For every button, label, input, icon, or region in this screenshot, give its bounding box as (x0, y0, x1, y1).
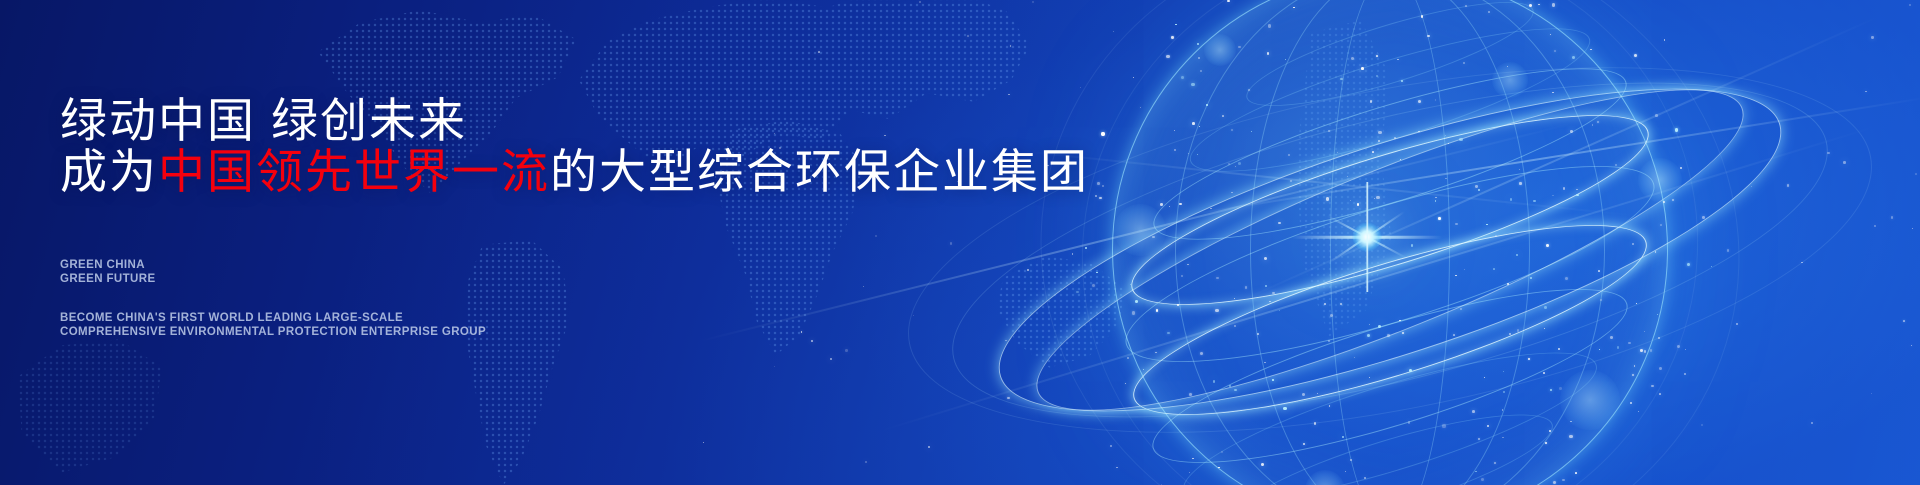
background-particle (919, 1, 921, 3)
globe-particle (1135, 300, 1138, 303)
background-particle (1912, 228, 1913, 229)
globe-particle (1218, 467, 1220, 469)
globe-latitude-ring-6 (1117, 188, 1662, 452)
globe-particle (1238, 162, 1241, 165)
background-particle (1488, 11, 1490, 13)
globe-meridian-2 (1175, 0, 1605, 485)
globe-particle (1576, 189, 1578, 191)
globe-particle (1101, 132, 1104, 135)
globe-particle (1177, 304, 1179, 306)
globe-particle (1354, 357, 1355, 358)
globe-particle (1677, 345, 1680, 348)
globe-particle (1248, 89, 1250, 91)
globe-particle (1546, 244, 1549, 247)
background-particle (950, 242, 952, 244)
background-particle (1455, 223, 1457, 225)
globe-particle (1213, 380, 1215, 382)
background-particle (1787, 184, 1790, 187)
globe-particle (1378, 131, 1381, 134)
globe-particle (1655, 251, 1657, 253)
globe-particle (1197, 154, 1198, 155)
background-particle (1340, 303, 1343, 306)
globe-particle (1229, 385, 1231, 387)
background-particle (1374, 198, 1375, 199)
globe-particle (1529, 4, 1532, 7)
globe-particle (1143, 369, 1144, 370)
globe-particle (1465, 5, 1467, 7)
globe-particle (1684, 373, 1686, 375)
globe-particle (1543, 372, 1545, 374)
globe-particle (1361, 67, 1364, 70)
background-particle (1228, 163, 1230, 165)
globe-particle (1644, 350, 1647, 353)
background-particle (1278, 222, 1281, 225)
globe-particle (1378, 140, 1380, 142)
globe-particle (1478, 189, 1480, 191)
globe-particle (1402, 332, 1404, 334)
globe-particle (1200, 352, 1203, 355)
background-particle (967, 35, 969, 37)
background-particle (1507, 66, 1508, 67)
globe-particle (1576, 194, 1579, 197)
background-particle (1874, 225, 1876, 227)
background-particle (779, 147, 781, 149)
background-particle (1445, 178, 1447, 180)
globe-particle (1503, 391, 1505, 393)
globe-particle (1261, 463, 1264, 466)
globe-particle (1438, 217, 1441, 220)
globe-particle (1553, 481, 1556, 484)
globe-particle (1191, 83, 1194, 86)
globe-graphic (1070, 0, 1710, 485)
globe-particle (1174, 149, 1176, 151)
globe-particle (1411, 244, 1413, 246)
globe-particle (1475, 471, 1477, 473)
globe-particle (1558, 348, 1560, 350)
headline-white-prefix: 成为 (60, 145, 158, 198)
globe-particle (1102, 185, 1104, 187)
globe-particle (1502, 409, 1504, 411)
globe-particle (1187, 264, 1188, 265)
background-particle (1685, 349, 1686, 350)
globe-meridian-3 (1250, 0, 1530, 485)
background-particle (1559, 387, 1562, 390)
globe-particle (1272, 292, 1275, 295)
globe-particle (1216, 277, 1218, 279)
globe-particle (1329, 405, 1331, 407)
globe-particle (1503, 371, 1505, 373)
hero-banner: 绿动中国 绿创未来 成为中国领先世界一流的大型综合环保企业集团 GREEN CH… (0, 0, 1920, 485)
globe-particle (1171, 36, 1173, 38)
globe-particle (1409, 369, 1412, 372)
globe-meridian-1 (1112, 0, 1668, 485)
background-particle (1464, 269, 1465, 270)
background-particle (1116, 467, 1118, 469)
globe-particle (1663, 201, 1665, 203)
globe-particle (1519, 182, 1521, 184)
globe-particle (1293, 7, 1294, 8)
globe-particle (1401, 80, 1403, 82)
background-particle (865, 461, 867, 463)
globe-particle (1130, 284, 1131, 285)
globe-particle (1337, 152, 1338, 153)
globe-particle (1550, 34, 1552, 36)
background-particle (774, 133, 775, 134)
background-particle (1435, 99, 1437, 101)
globe-particle (1634, 54, 1637, 57)
globe-particle (1238, 46, 1241, 49)
globe-particle (1283, 407, 1286, 410)
globe-particle (1072, 253, 1074, 255)
globe-orbit-ring-4 (1008, 33, 1773, 466)
headline-red-emphasis: 中国领先世界一流 (158, 145, 550, 198)
globe-particle (1181, 275, 1183, 277)
background-particle (1915, 173, 1917, 175)
globe-particle (1234, 298, 1235, 299)
globe-particle (1156, 309, 1158, 311)
globe-particle (1264, 362, 1266, 364)
globe-particle (1235, 166, 1236, 167)
globe-particle (1517, 329, 1519, 331)
globe-particle (1702, 216, 1705, 219)
globe-particle (1166, 55, 1169, 58)
background-particle (1843, 161, 1845, 163)
globe-particle (1215, 309, 1218, 312)
background-particle (1911, 345, 1912, 346)
background-particle (1097, 182, 1100, 185)
globe-particle (1615, 164, 1616, 165)
globe-particle (1400, 159, 1402, 161)
globe-particle (1554, 50, 1556, 52)
globe-particle (1632, 243, 1634, 245)
globe-particle (1357, 203, 1359, 205)
globe-particle (1575, 472, 1577, 474)
globe-particle (1486, 224, 1487, 225)
background-particle (1080, 87, 1081, 88)
light-beam-3 (1180, 96, 1920, 216)
background-particle (1113, 31, 1114, 32)
globe-particle (1330, 314, 1333, 317)
background-particle (818, 51, 820, 53)
globe-particle (1175, 24, 1176, 25)
background-particle (1047, 165, 1048, 166)
background-particle (830, 358, 832, 360)
globe-particle (1600, 299, 1602, 301)
globe-particle (1630, 402, 1632, 404)
globe-particle (1659, 367, 1662, 370)
globe-latitude-ring-8 (1171, 324, 1609, 485)
globe-particle (1565, 277, 1568, 280)
globe-particle (1257, 333, 1259, 335)
globe-particle (1326, 197, 1329, 200)
globe-particle (1711, 266, 1712, 267)
background-particle (1245, 286, 1247, 288)
globe-particle (1351, 57, 1354, 60)
globe-particle (1484, 377, 1485, 378)
globe-particle (1085, 247, 1087, 249)
globe-particle (1155, 352, 1157, 354)
globe-particle (1328, 130, 1330, 132)
globe-particle (1442, 424, 1445, 427)
background-particle (1110, 445, 1112, 447)
background-particle (1827, 152, 1830, 155)
globe-particle (1528, 358, 1530, 360)
globe-particle (1569, 435, 1572, 438)
globe-latitude-ring-7 (1138, 256, 1642, 485)
background-particle (1495, 235, 1496, 236)
background-particle (1638, 411, 1639, 412)
background-particle (1478, 438, 1480, 440)
background-particle (1394, 137, 1396, 139)
globe-particle (1179, 203, 1182, 206)
globe-particle (1317, 393, 1318, 394)
background-particle (1871, 36, 1873, 38)
headline-white-suffix: 的大型综合环保企业集团 (550, 145, 1089, 198)
background-particle (1460, 308, 1462, 310)
globe-particle (1545, 442, 1547, 444)
globe-particle (1399, 320, 1400, 321)
globe-particle (1369, 377, 1370, 378)
background-particle (1174, 130, 1175, 131)
globe-particle (1370, 100, 1373, 103)
globe-particle (1376, 196, 1379, 199)
globe-particle (1272, 379, 1274, 381)
globe-particle (1285, 59, 1286, 60)
globe-particle (1530, 277, 1532, 279)
globe-particle (1125, 383, 1126, 384)
globe-particle (1658, 337, 1661, 340)
tagline-short-line-2: GREEN FUTURE (60, 272, 156, 286)
globe-particle (1448, 143, 1450, 145)
globe-particle (1345, 471, 1346, 472)
globe-particle (1369, 324, 1370, 325)
background-particle (1347, 176, 1348, 177)
globe-particle (1507, 283, 1509, 285)
globe-particle (1493, 268, 1495, 270)
globe-particle (1487, 425, 1490, 428)
globe-particle (1096, 272, 1098, 274)
light-beam-4 (1020, 150, 1637, 216)
globe-particle (1152, 236, 1154, 238)
globe-particle (1251, 131, 1252, 132)
globe-particle (1367, 334, 1370, 337)
light-beam-5 (1240, 15, 1880, 301)
globe-particle (1342, 436, 1344, 438)
globe-particle (1324, 303, 1326, 305)
headline-line-2: 成为中国领先世界一流的大型综合环保企业集团 (60, 133, 1089, 202)
globe-particle (1549, 430, 1551, 432)
globe-particle (1189, 393, 1192, 396)
globe-particle (1502, 437, 1503, 438)
background-particle (1562, 479, 1565, 482)
globe-particle (1538, 4, 1540, 6)
background-particle (1664, 39, 1666, 41)
globe-particle (1206, 104, 1208, 106)
globe-particle (1481, 478, 1484, 481)
globe-particle (1651, 385, 1654, 388)
background-particle (801, 331, 802, 332)
globe-particle (1453, 334, 1455, 336)
globe-particle (1181, 76, 1184, 79)
background-particle (1727, 249, 1730, 252)
globe-particle (1200, 70, 1202, 72)
background-particle (1644, 331, 1645, 332)
globe-particle (1288, 154, 1290, 156)
globe-particle (1475, 185, 1477, 187)
background-particle (1610, 336, 1613, 339)
globe-particle (1231, 192, 1232, 193)
globe-particle (1199, 126, 1200, 127)
globe-bokeh-orb-3 (1560, 370, 1620, 430)
globe-particle (1598, 270, 1600, 272)
globe-particle (1268, 24, 1271, 27)
globe-particle (1533, 200, 1535, 202)
globe-particle (1303, 443, 1305, 445)
background-particle (1269, 301, 1270, 302)
globe-particle (1544, 328, 1545, 329)
background-particle (1903, 320, 1905, 322)
background-particle (1210, 208, 1211, 209)
globe-core-starburst (1340, 210, 1394, 264)
background-particle (845, 349, 848, 352)
globe-particle (1640, 349, 1643, 352)
tagline-long-line-2: COMPREHENSIVE ENVIRONMENTAL PROTECTION E… (60, 325, 486, 339)
globe-particle (1340, 78, 1343, 81)
background-particle (1563, 187, 1566, 190)
globe-particle (1364, 477, 1366, 479)
globe-orbit-ring-1 (968, 23, 1813, 476)
background-particle (884, 135, 885, 136)
background-particle (863, 286, 864, 287)
globe-particle (1552, 3, 1555, 6)
globe-particle (1197, 43, 1199, 45)
globe-particle (1314, 422, 1316, 424)
globe-particle (1494, 462, 1496, 464)
globe-particle (1279, 310, 1280, 311)
background-particle (1701, 424, 1703, 426)
globe-bokeh-orb-2 (1492, 62, 1528, 98)
globe-bokeh-orb-6 (1305, 470, 1345, 485)
tagline-long-line-1: BECOME CHINA'S FIRST WORLD LEADING LARGE… (60, 311, 486, 325)
background-particle (1221, 451, 1223, 453)
background-particle (1552, 195, 1553, 196)
background-particle (1140, 107, 1141, 108)
globe-particle (1408, 421, 1410, 423)
globe-particle (1188, 153, 1189, 154)
globe-particle (1189, 472, 1191, 474)
globe-particle (1650, 349, 1652, 351)
globe-particle (1459, 138, 1462, 141)
globe-particle (1590, 49, 1592, 51)
globe-particle (1350, 200, 1351, 201)
background-particle (1751, 186, 1752, 187)
globe-meridian-4 (1330, 0, 1450, 485)
globe-particle (1127, 357, 1130, 360)
globe-particle (1418, 131, 1420, 133)
globe-particle (1617, 346, 1620, 349)
globe-particle (1572, 56, 1575, 59)
globe-latitude-ring-1 (1238, 0, 1542, 126)
globe-particle (1427, 35, 1429, 37)
background-particle (1463, 62, 1465, 64)
background-particle (1865, 91, 1866, 92)
globe-particle (1455, 275, 1456, 276)
globe-particle (1264, 257, 1267, 260)
globe-particle (1350, 459, 1352, 461)
background-particle (1811, 422, 1813, 424)
globe-particle (1418, 100, 1421, 103)
background-particle (1032, 1, 1034, 3)
globe-latitude-ring-9 (1217, 392, 1562, 485)
background-particle (1008, 94, 1009, 95)
background-particle (1801, 262, 1803, 264)
globe-particle (1544, 306, 1547, 309)
globe-particle (1169, 206, 1170, 207)
tagline-short-line-1: GREEN CHINA (60, 258, 156, 272)
globe-particle (1472, 410, 1475, 413)
globe-particle (1687, 263, 1690, 266)
globe-particle (1372, 151, 1374, 153)
globe-sphere-body (1112, 0, 1668, 485)
globe-particle (1290, 180, 1292, 182)
globe-particle (1435, 197, 1437, 199)
background-particle (1628, 342, 1631, 345)
globe-particle (1632, 374, 1634, 376)
globe-particle (1672, 199, 1674, 201)
globe-particle (1198, 57, 1200, 59)
background-particle (1891, 216, 1894, 219)
background-particle (1909, 4, 1911, 6)
globe-particle (1550, 389, 1552, 391)
globe-particle (1376, 75, 1378, 77)
background-particle (1519, 169, 1520, 170)
globe-particle (1222, 115, 1224, 117)
globe-particle (1376, 55, 1378, 57)
globe-particle (1133, 77, 1134, 78)
globe-particle (1192, 458, 1194, 460)
globe-particle (1636, 303, 1638, 305)
background-particle (1010, 45, 1011, 46)
globe-particle (1167, 332, 1170, 335)
background-particle (1736, 323, 1738, 325)
background-particle (811, 340, 813, 342)
globe-particle (1421, 15, 1424, 18)
globe-particle (1234, 325, 1236, 327)
globe-particle (1680, 167, 1682, 169)
background-particle (1231, 129, 1234, 132)
globe-orbit-ring-5 (999, 0, 1781, 485)
background-particle (1871, 393, 1873, 395)
globe-particle (1570, 421, 1572, 423)
globe-particle (1099, 197, 1102, 200)
globe-particle (1132, 311, 1135, 314)
globe-particle (1076, 291, 1079, 294)
globe-particle (1302, 393, 1305, 396)
globe-particle (1516, 254, 1518, 256)
background-particle (1397, 59, 1399, 61)
globe-particle (1387, 334, 1389, 336)
globe-particle (1634, 365, 1636, 367)
globe-particle (1095, 195, 1097, 197)
tagline-long: BECOME CHINA'S FIRST WORLD LEADING LARGE… (60, 311, 486, 339)
globe-particle (1657, 314, 1659, 316)
globe-particle (1599, 349, 1600, 350)
globe-particle (1570, 130, 1572, 132)
globe-particle (1328, 340, 1330, 342)
globe-particle (1435, 200, 1436, 201)
globe-particle (1510, 198, 1512, 200)
globe-particle (1675, 128, 1678, 131)
